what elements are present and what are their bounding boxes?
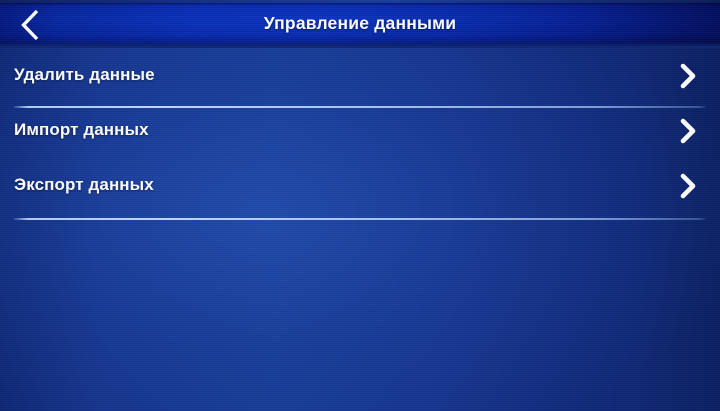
data-management-screen: Управление данными Удалить данные Импорт… [0, 0, 720, 411]
chevron-right-icon [674, 158, 702, 213]
menu-item-label: Импорт данных [14, 103, 149, 158]
list-separator [14, 218, 706, 220]
menu-item-label: Экспорт данных [14, 158, 154, 213]
page-title: Управление данными [0, 0, 720, 46]
menu-item-export-data[interactable]: Экспорт данных [0, 158, 720, 213]
menu-list: Удалить данные Импорт данных Экспорт дан… [0, 48, 720, 213]
menu-item-delete-data[interactable]: Удалить данные [0, 48, 720, 103]
menu-item-label: Удалить данные [14, 48, 155, 103]
menu-item-import-data[interactable]: Импорт данных [0, 103, 720, 158]
back-button[interactable] [6, 4, 56, 46]
chevron-right-icon [674, 48, 702, 103]
chevron-left-icon [18, 8, 44, 42]
chevron-right-icon [674, 103, 702, 158]
